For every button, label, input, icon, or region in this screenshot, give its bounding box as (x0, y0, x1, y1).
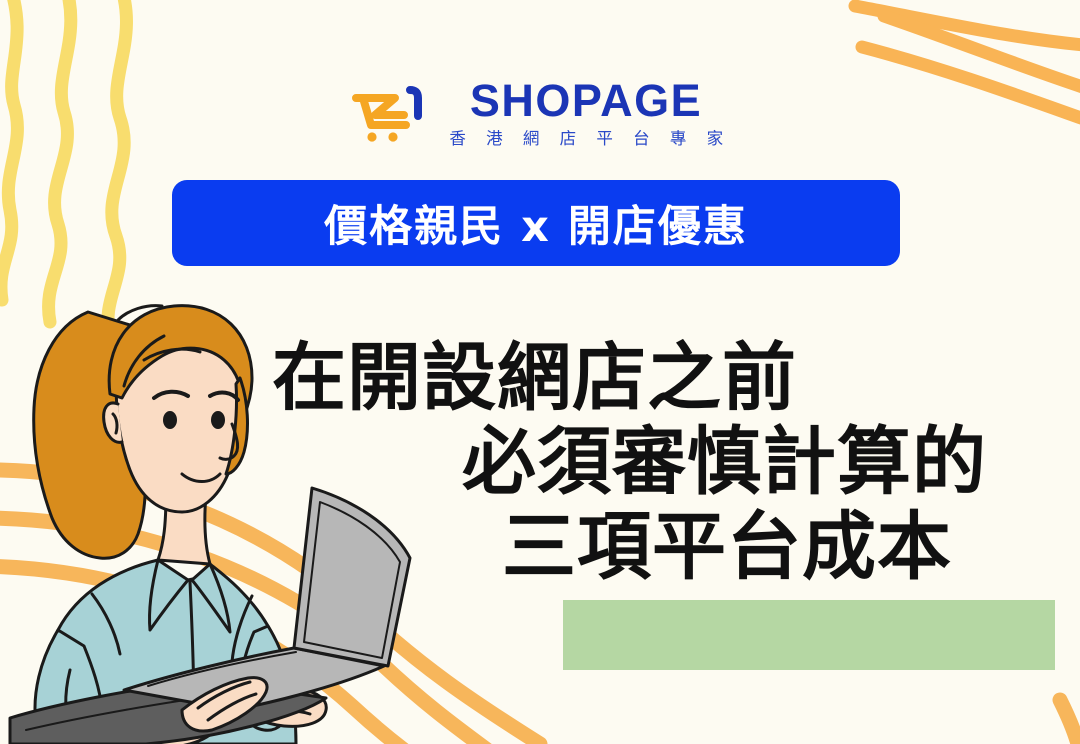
headline-line-2: 必須審慎計算的 (462, 420, 1080, 504)
logo-wordmark: SHOPAGE (470, 78, 702, 124)
headline-line-1: 在開設網店之前 (272, 336, 1080, 420)
shopping-cart-icon (349, 82, 427, 144)
brand-logo: SHOPAGE 香 港 網 店 平 台 專 家 (0, 78, 1080, 148)
headline-highlight-bar (563, 600, 1055, 670)
logo-subtitle: 香 港 網 店 平 台 專 家 (449, 131, 730, 148)
promo-banner: 價格親民 x 開店優惠 (172, 180, 900, 266)
eye-right (211, 411, 225, 429)
headline-line-3: 三項平台成本 (502, 505, 1080, 589)
promotional-poster: SHOPAGE 香 港 網 店 平 台 專 家 價格親民 x 開店優惠 在開設網… (0, 0, 1080, 744)
eye-left (163, 411, 177, 429)
laptop-screen-inner (304, 502, 400, 658)
promo-banner-text: 價格親民 x 開店優惠 (324, 192, 748, 254)
